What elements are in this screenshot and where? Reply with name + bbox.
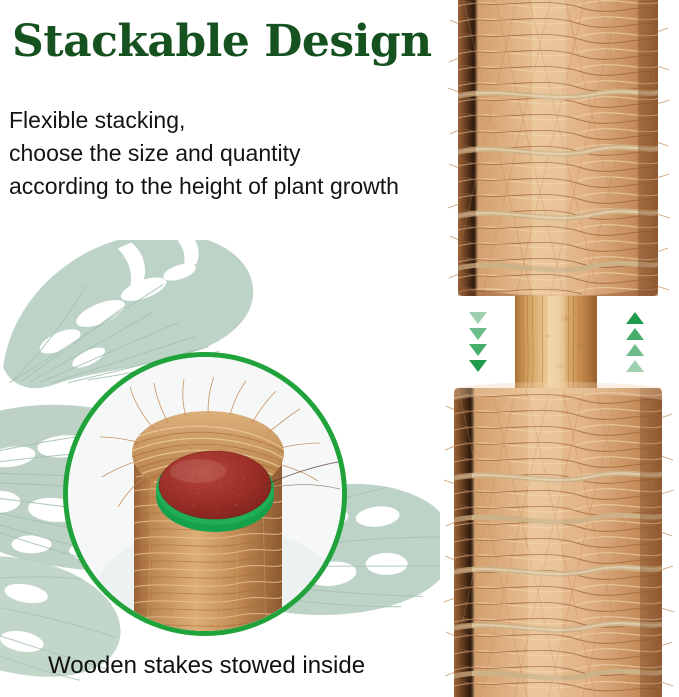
infographic-canvas: Stackable Design Flexible stacking, choo… — [0, 0, 679, 697]
stack-up-arrows — [626, 312, 644, 372]
lower-coir-pole — [444, 382, 679, 697]
description-block: Flexible stacking, choose the size and q… — [9, 104, 449, 203]
wooden-stake-connector — [515, 286, 597, 394]
caption-wooden-stakes: Wooden stakes stowed inside — [48, 652, 365, 680]
description-line-1: Flexible stacking, — [9, 104, 449, 137]
stack-down-arrows — [469, 312, 487, 372]
description-line-3: according to the height of plant growth — [9, 170, 449, 203]
upper-coir-pole — [448, 0, 679, 296]
detail-closeup-photo — [68, 357, 342, 631]
description-line-2: choose the size and quantity — [9, 137, 449, 170]
page-title: Stackable Design — [12, 18, 432, 66]
stacked-pole-illustration — [440, 0, 679, 697]
detail-closeup-circle — [63, 352, 347, 636]
